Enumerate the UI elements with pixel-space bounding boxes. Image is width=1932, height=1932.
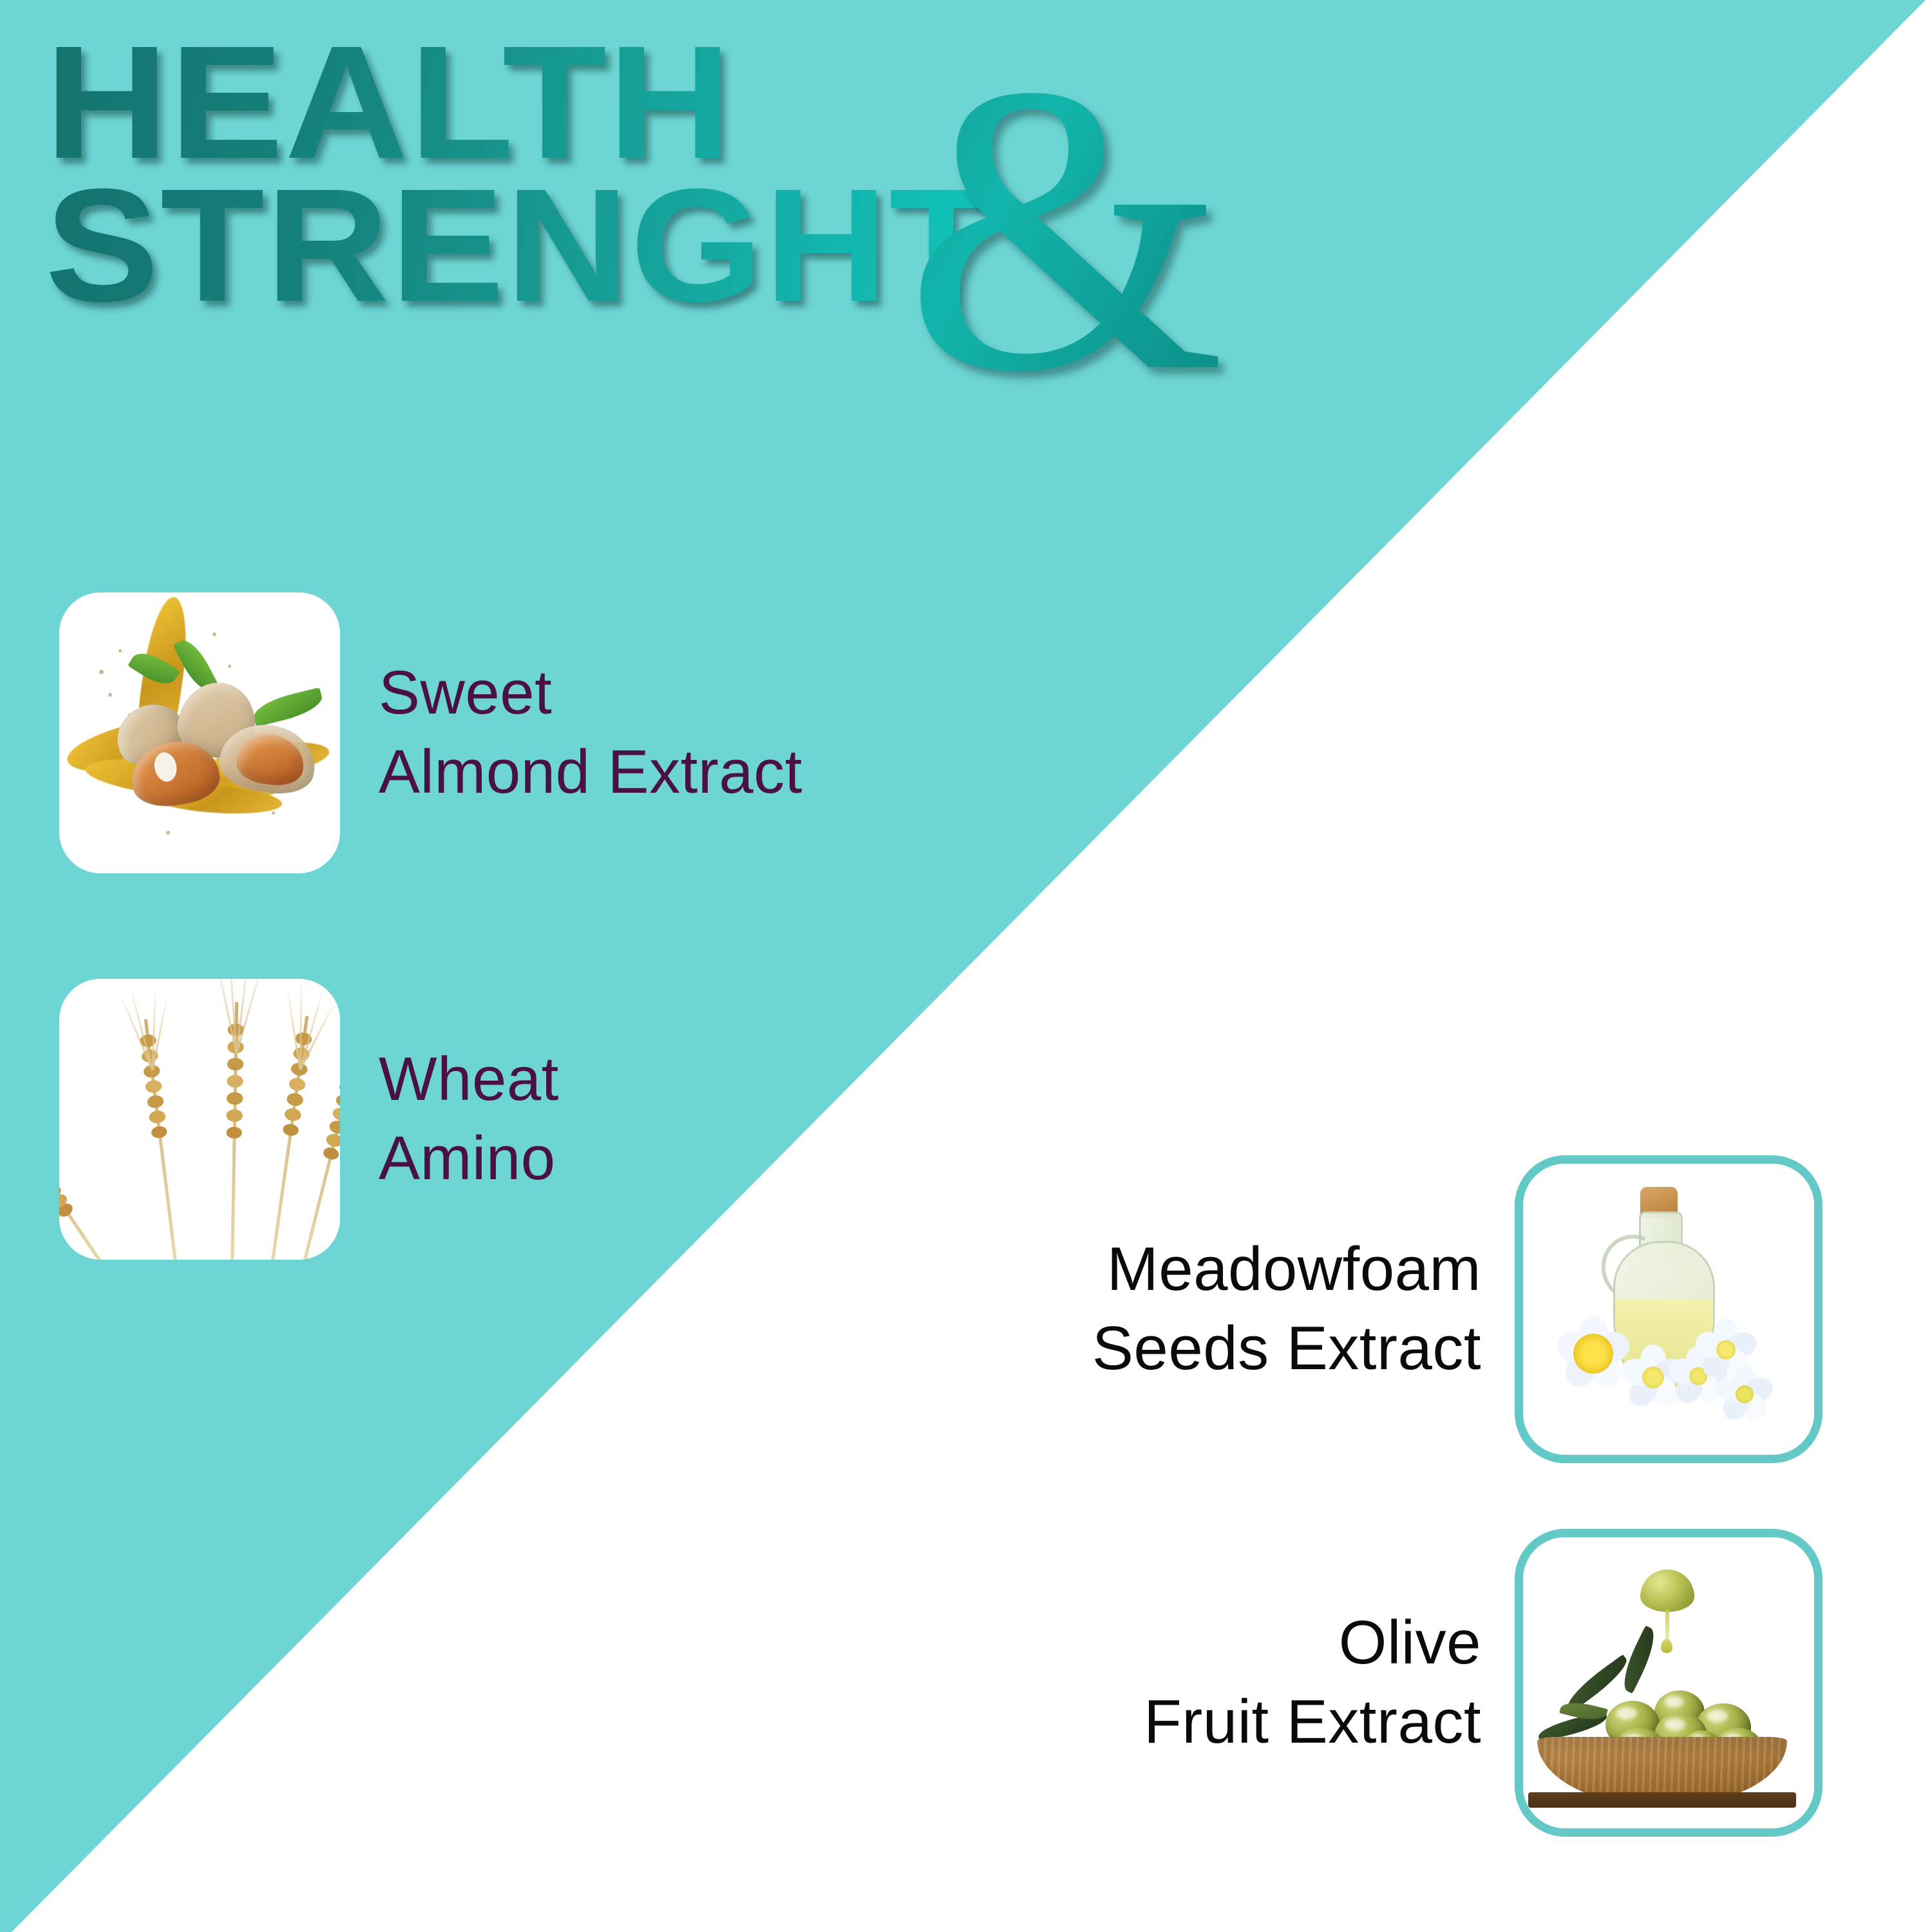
almond-oil-icon bbox=[59, 592, 340, 873]
brand-logo-line-2: STRENGHT bbox=[45, 178, 994, 312]
ampersand-icon: & bbox=[905, 23, 1226, 435]
ingredient-label-sweet-almond-extract: Sweet Almond Extract bbox=[379, 654, 802, 812]
meadowfoam-flower-white-4 bbox=[1715, 1365, 1774, 1424]
ingredient-wheat-amino[interactable]: Wheat Amino bbox=[59, 979, 559, 1260]
brand-logo-wordmark: HEALTH STRENGHT bbox=[45, 35, 941, 312]
ingredient-sweet-almond-extract[interactable]: Sweet Almond Extract bbox=[59, 592, 802, 873]
poster-canvas: HEALTH STRENGHT & bbox=[0, 0, 1932, 1932]
olive-bowl-icon bbox=[1515, 1529, 1823, 1837]
wheat-stalks-icon bbox=[59, 979, 340, 1260]
ingredient-label-meadowfoam-seeds-extract: Meadowfoam Seeds Extract bbox=[1092, 1230, 1481, 1388]
ingredient-label-olive-fruit-extract: Olive Fruit Extract bbox=[1144, 1604, 1481, 1762]
ingredient-label-wheat-amino: Wheat Amino bbox=[379, 1040, 559, 1198]
brand-logo: HEALTH STRENGHT & bbox=[45, 35, 1301, 248]
almond-oil-artwork bbox=[59, 592, 340, 873]
brand-logo-line-1: HEALTH bbox=[45, 35, 994, 169]
ingredient-olive-fruit-extract[interactable]: Olive Fruit Extract bbox=[992, 1529, 1823, 1837]
wheat-stalks-artwork bbox=[59, 979, 340, 1260]
ingredient-meadowfoam-seeds-extract[interactable]: Meadowfoam Seeds Extract bbox=[992, 1155, 1823, 1463]
olive-bowl-artwork bbox=[1523, 1537, 1814, 1828]
oil-bottle-flowers-artwork bbox=[1523, 1164, 1814, 1455]
oil-bottle-flowers-icon bbox=[1515, 1155, 1823, 1463]
